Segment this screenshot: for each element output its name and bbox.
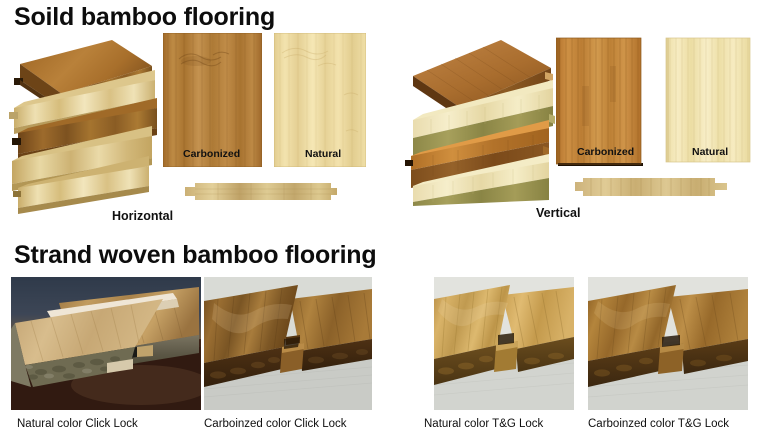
horizontal-edge-profile bbox=[185, 181, 337, 203]
vertical-edge-profile bbox=[575, 175, 727, 199]
photo-natural-tg-lock bbox=[434, 277, 574, 410]
swatch-label-vertical-natural: Natural bbox=[692, 146, 728, 158]
swatch-vertical-natural bbox=[664, 36, 752, 164]
caption-horizontal: Horizontal bbox=[112, 209, 173, 223]
vertical-plank-stack bbox=[403, 36, 555, 206]
photo-natural-click-lock bbox=[11, 277, 201, 410]
swatch-label-horizontal-carbonized: Carbonized bbox=[183, 148, 240, 160]
photo-caption-carbonized-click-lock: Carboinzed color Click Lock bbox=[204, 418, 347, 430]
swatch-horizontal-carbonized bbox=[163, 33, 262, 167]
section-title-strand-woven: Strand woven bamboo flooring bbox=[14, 241, 376, 270]
swatch-horizontal-natural bbox=[274, 33, 366, 167]
photo-caption-natural-click-lock: Natural color Click Lock bbox=[17, 418, 138, 430]
swatch-label-horizontal-natural: Natural bbox=[305, 148, 341, 160]
photo-caption-carbonized-tg-lock: Carboinzed color T&G Lock bbox=[588, 418, 729, 430]
horizontal-plank-stack bbox=[6, 36, 158, 214]
swatch-label-vertical-carbonized: Carbonized bbox=[577, 146, 634, 158]
photo-carbonized-tg-lock bbox=[588, 277, 748, 410]
section-title-solid-bamboo: Soild bamboo flooring bbox=[14, 3, 275, 32]
product-image-canvas: Soild bamboo flooring bbox=[0, 0, 760, 443]
photo-caption-natural-tg-lock: Natural color T&G Lock bbox=[424, 418, 543, 430]
caption-vertical: Vertical bbox=[536, 206, 580, 220]
photo-carbonized-click-lock bbox=[204, 277, 372, 410]
